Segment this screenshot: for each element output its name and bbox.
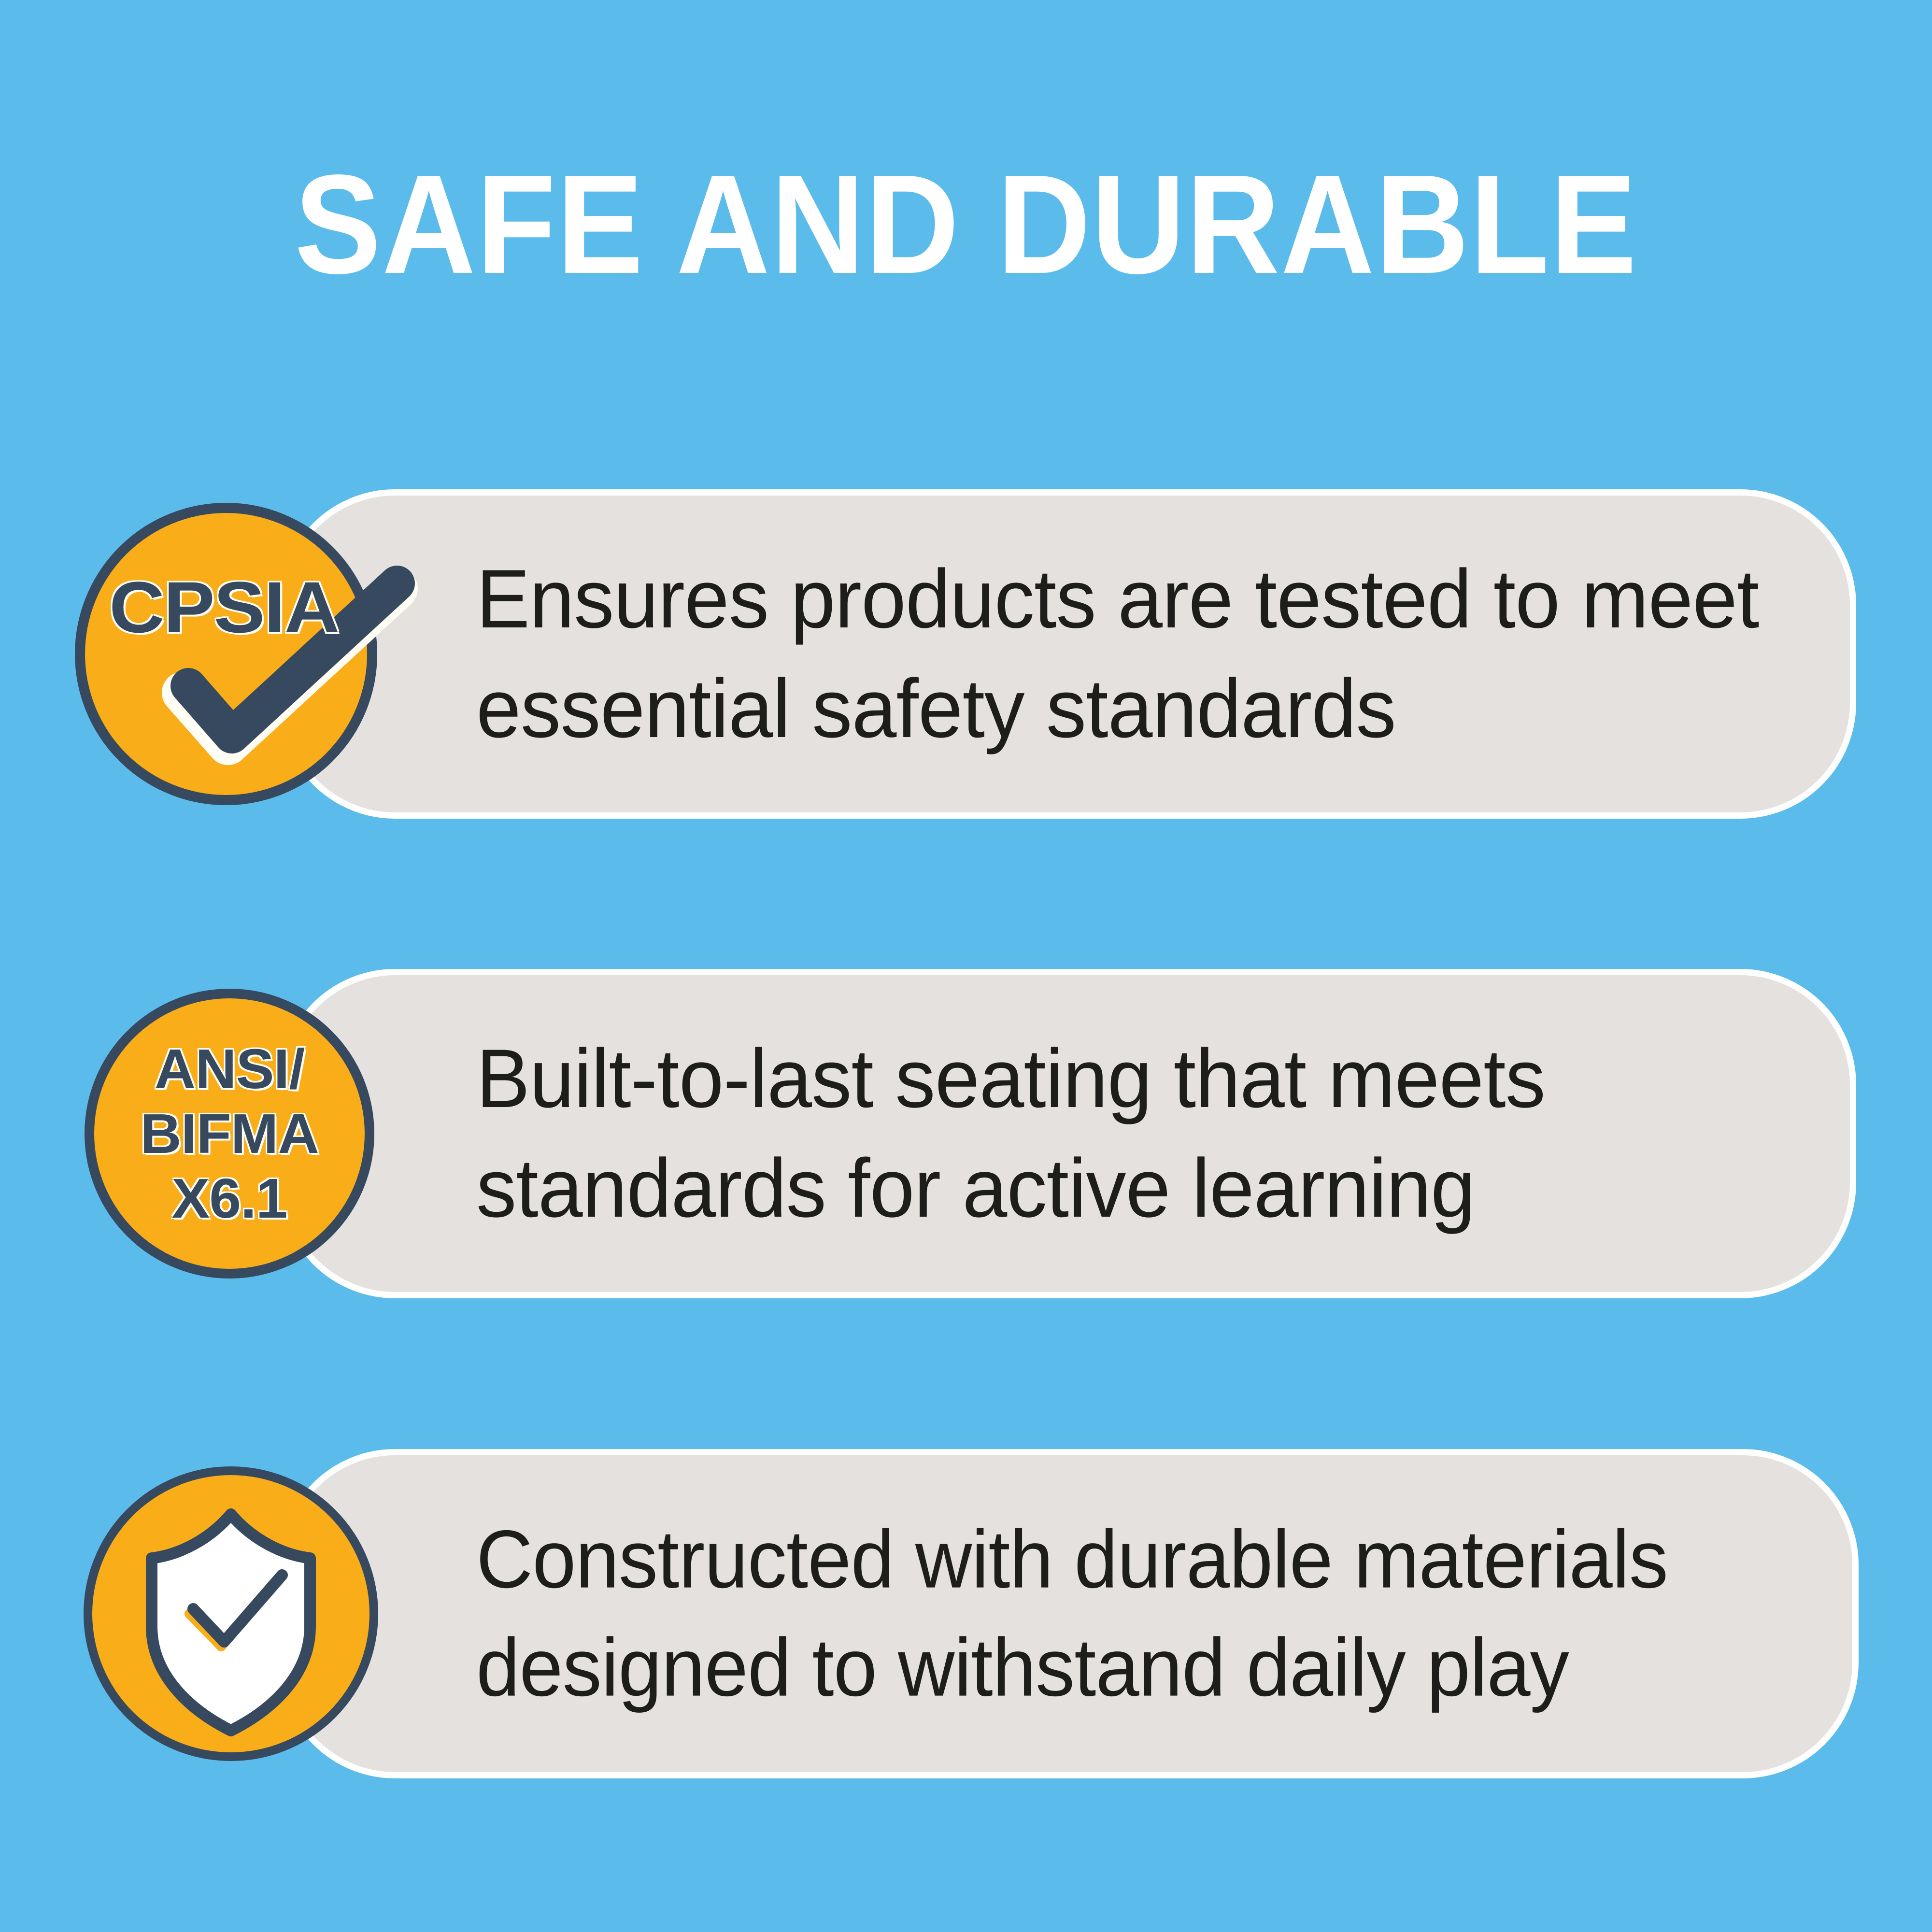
page-title: SAFE AND DURABLE <box>77 154 1855 295</box>
feature-text: Built-to-last seating that meets standar… <box>476 1024 1766 1243</box>
feature-row: Built-to-last seating that meets standar… <box>0 969 1932 1298</box>
feature-text: Constructed with durable materials desig… <box>476 1506 1749 1722</box>
feature-row: Ensures products are tested to meet esse… <box>0 489 1932 819</box>
ansi-bifma-badge-icon: ANSI/ BIFMA X6.1 <box>82 986 377 1281</box>
feature-card: Ensures products are tested to meet esse… <box>279 489 1856 819</box>
feature-text: Ensures products are tested to meet esse… <box>476 544 1766 764</box>
cpsia-check-badge-icon: CPSIA <box>72 499 382 809</box>
feature-card: Built-to-last seating that meets standar… <box>279 969 1856 1298</box>
feature-row: Constructed with durable materials desig… <box>0 1449 1932 1778</box>
feature-card: Constructed with durable materials desig… <box>279 1449 1859 1778</box>
shield-check-badge-icon <box>81 1464 381 1763</box>
